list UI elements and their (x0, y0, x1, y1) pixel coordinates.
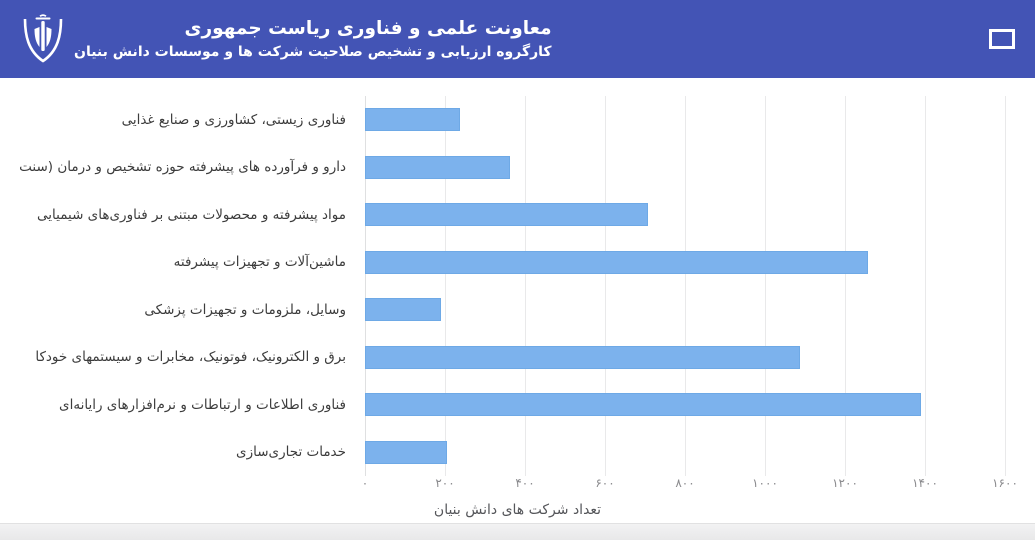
app-header: معاونت علمی و فناوری ریاست جمهوری کارگرو… (0, 0, 1035, 78)
bar-4[interactable] (365, 298, 441, 321)
bar-6[interactable] (365, 393, 921, 416)
x-tick-800: ۸۰۰ (675, 476, 694, 490)
header-subtitle: کارگروه ارزیابی و تشخیص صلاحیت شرکت ها و… (74, 44, 552, 62)
category-axis-labels: فناوری زیستی، کشاورزی و صنایع غذاییدارو … (0, 96, 360, 476)
dashboard-root: معاونت علمی و فناوری ریاست جمهوری کارگرو… (0, 0, 1035, 540)
bar-3[interactable] (365, 251, 868, 274)
x-tick-1400: ۱۴۰۰ (912, 476, 938, 490)
brand-text: معاونت علمی و فناوری ریاست جمهوری کارگرو… (74, 17, 552, 62)
x-tick-1200: ۱۲۰۰ (832, 476, 858, 490)
bar-7[interactable] (365, 441, 447, 464)
bar-chart: فناوری زیستی، کشاورزی و صنایع غذاییدارو … (0, 78, 1035, 524)
iran-emblem-icon (22, 13, 64, 65)
x-axis-tick-labels: ۰۲۰۰۴۰۰۶۰۰۸۰۰۱۰۰۰۱۲۰۰۱۴۰۰۱۶۰۰ (365, 476, 1025, 500)
x-axis-title: تعداد شرکت های دانش بنیان (0, 502, 1035, 518)
x-tick-200: ۲۰۰ (435, 476, 454, 490)
header-title: معاونت علمی و فناوری ریاست جمهوری (185, 17, 552, 40)
category-label-0: فناوری زیستی، کشاورزی و صنایع غذایی (6, 110, 346, 130)
category-label-7: خدمات تجاری‌سازی (6, 442, 346, 462)
plot-area (365, 96, 1025, 476)
bar-5[interactable] (365, 346, 800, 369)
category-label-2: مواد پیشرفته و محصولات مبتنی بر فناوری‌ه… (6, 205, 346, 225)
brand-block: معاونت علمی و فناوری ریاست جمهوری کارگرو… (22, 13, 552, 65)
x-tick-1600: ۱۶۰۰ (992, 476, 1018, 490)
category-label-4: وسایل، ملزومات و تجهیزات پزشکی (6, 300, 346, 320)
x-tick-400: ۴۰۰ (515, 476, 534, 490)
category-label-1: دارو و فرآورده های پیشرفته حوزه تشخیص و … (6, 157, 346, 177)
category-label-6: فناوری اطلاعات و ارتباطات و نرم‌افزارهای… (6, 395, 346, 415)
bar-1[interactable] (365, 156, 510, 179)
x-tick-1000: ۱۰۰۰ (752, 476, 778, 490)
category-label-3: ماشین‌آلات و تجهیزات پیشرفته (6, 252, 346, 272)
footer-strip (0, 523, 1035, 540)
category-label-5: برق و الکترونیک، فوتونیک، مخابرات و سیست… (6, 347, 346, 367)
fullscreen-expand-icon[interactable] (987, 24, 1017, 54)
bar-2[interactable] (365, 203, 648, 226)
x-tick-600: ۶۰۰ (595, 476, 614, 490)
bar-series (365, 96, 1025, 476)
x-tick-0: ۰ (362, 476, 368, 490)
bar-0[interactable] (365, 108, 460, 131)
